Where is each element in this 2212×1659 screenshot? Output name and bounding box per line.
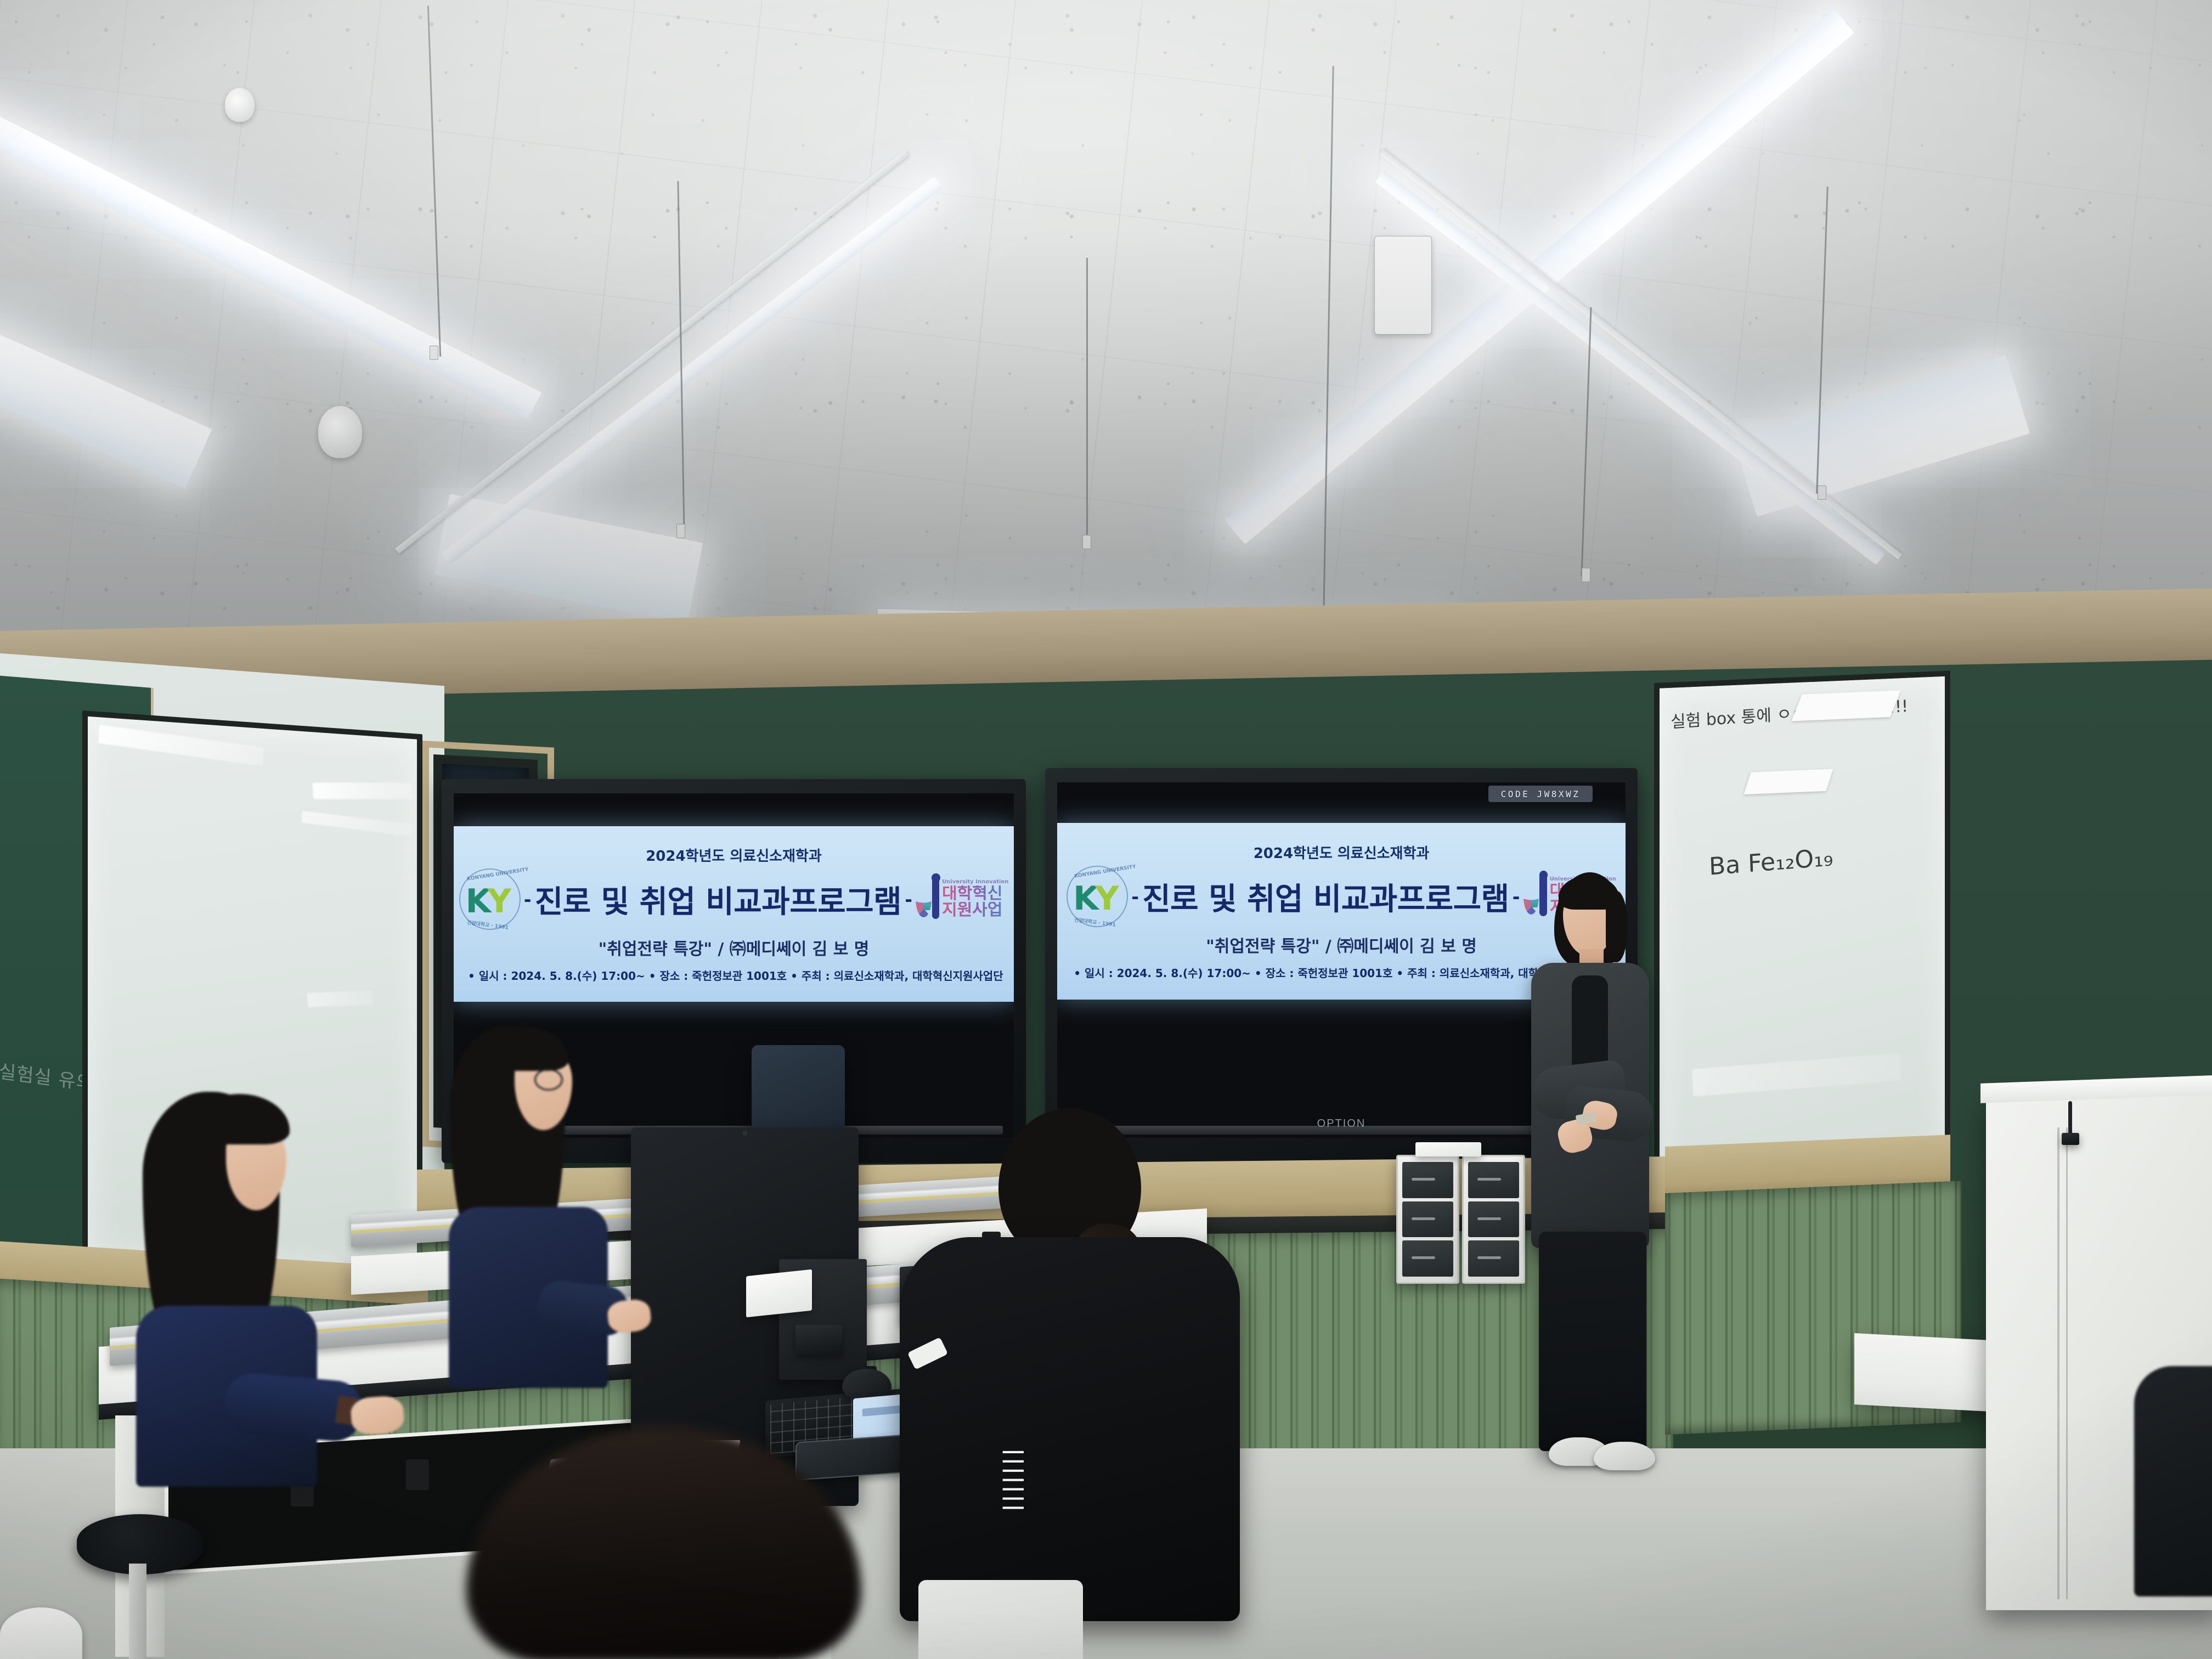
- slide-footer: • 일시 : 2024. 5. 8.(수) 17:00~ • 장소 : 죽헌정보…: [468, 967, 1000, 983]
- rack-cell: [1402, 1201, 1453, 1238]
- stool-post: [129, 1564, 146, 1659]
- whiteboard-magnet-note-2: [1744, 769, 1833, 794]
- desk-white-module-1: [746, 1269, 812, 1318]
- cabinet-seam-1: [2057, 1127, 2059, 1599]
- slide-subtitle-right: 2024학년도 의료신소재학과: [1071, 842, 1611, 862]
- ky-logo-letter-y-right: Y: [1095, 882, 1119, 915]
- ceiling-shading: [0, 0, 2212, 653]
- student-front-left: [126, 1092, 362, 1487]
- monitor-camera-icon: [742, 1131, 747, 1136]
- slide-subtitle: 2024학년도 의료신소재학과: [468, 845, 1000, 865]
- student-foreground: [466, 1426, 861, 1659]
- slide-title: 진로 및 취업 비교과프로그램: [535, 877, 901, 922]
- student-foreground-hair: [466, 1426, 861, 1659]
- student-far-right: [2134, 1366, 2212, 1596]
- slide-main-row: K Y KONYANG UNIVERSITY 건양대학교 · 1991 - 진로…: [468, 868, 1000, 930]
- slide-dash-left-right: -: [1131, 884, 1138, 909]
- ui-logo-dot: [932, 873, 940, 882]
- floor-white-container: [0, 1607, 82, 1659]
- ui-logo-korean-line1: 대학혁신: [942, 885, 1008, 902]
- rack-cell: [1402, 1162, 1453, 1198]
- presenter-shoe-right: [1594, 1442, 1655, 1470]
- ui-logo-korean-line2: 지원사업: [942, 902, 1008, 919]
- presentation-code-badge: CODE JW8XWZ: [1488, 786, 1593, 802]
- display-brand-label: OPTION: [1317, 1118, 1366, 1130]
- ui-logo-text: University Innovation 대학혁신 지원사업: [942, 879, 1008, 918]
- ui-logo-j-stroke: [932, 878, 940, 919]
- presenter-skirt: [1539, 1232, 1646, 1451]
- ui-logo-mark: [916, 878, 941, 921]
- ceiling: [0, 0, 2212, 653]
- cabinet-connector: [2062, 1133, 2079, 1145]
- right-whiteboard-glare: [1692, 1053, 1901, 1097]
- rack-cell: [1402, 1240, 1453, 1277]
- student-center-white-pants: [918, 1580, 1083, 1659]
- front-rail-foot-2: [406, 1459, 429, 1490]
- slide-dash-right: -: [905, 887, 912, 912]
- presenter-inner-top: [1572, 975, 1608, 1074]
- student-center: |||||||: [900, 1108, 1262, 1659]
- whiteboard-glare-2: [312, 783, 412, 799]
- slide-speaker-line: "취업전략 특강" / ㈜메디쎄이 김 보 명: [468, 935, 1000, 960]
- lecture-hall-photo: 실험실 유의사항 2024학년도 의료신소재학과 K Y KONYANG UNI…: [0, 0, 2212, 1659]
- ky-logo-letter-y: Y: [488, 885, 511, 918]
- slide-title-right: 진로 및 취업 비교과프로그램: [1142, 874, 1509, 919]
- cabinet-cable: [2068, 1101, 2072, 1137]
- ui-logo-u-shape: [916, 881, 932, 917]
- cabinet-seam-2: [2066, 1127, 2068, 1599]
- desk-black-module-1: [795, 1325, 842, 1355]
- student-back-left-glasses: [534, 1069, 563, 1091]
- ky-university-logo-right: K Y KONYANG UNIVERSITY 건양대학교 · 1991: [1066, 866, 1128, 927]
- whiteboard-glare-4: [307, 991, 374, 1007]
- slide-dash-left: -: [524, 887, 531, 912]
- whiteboard-glare-1: [98, 725, 264, 766]
- instrument-rack-left: [1396, 1155, 1459, 1284]
- student-center-jacket: [900, 1237, 1240, 1621]
- whiteboard-formula: Ba Fe₁₂O₁₉: [1708, 843, 1833, 881]
- whiteboard-magnet-note-1: [1791, 690, 1900, 721]
- student-far-right-arm: [2134, 1366, 2212, 1596]
- left-slide: 2024학년도 의료신소재학과 K Y KONYANG UNIVERSITY 건…: [454, 826, 1014, 1002]
- presenter-hair-side: [1606, 891, 1628, 962]
- mouse[interactable]: [842, 1369, 891, 1400]
- student-back-left: [433, 1026, 614, 1399]
- whiteboard-glare-3: [302, 811, 412, 836]
- ky-university-logo: K Y KONYANG UNIVERSITY 건양대학교 · 1991: [459, 868, 521, 930]
- presenter: [1506, 872, 1671, 1487]
- university-innovation-logo: University Innovation 대학혁신 지원사업: [916, 878, 1008, 921]
- rack-top-tray: [1415, 1142, 1481, 1156]
